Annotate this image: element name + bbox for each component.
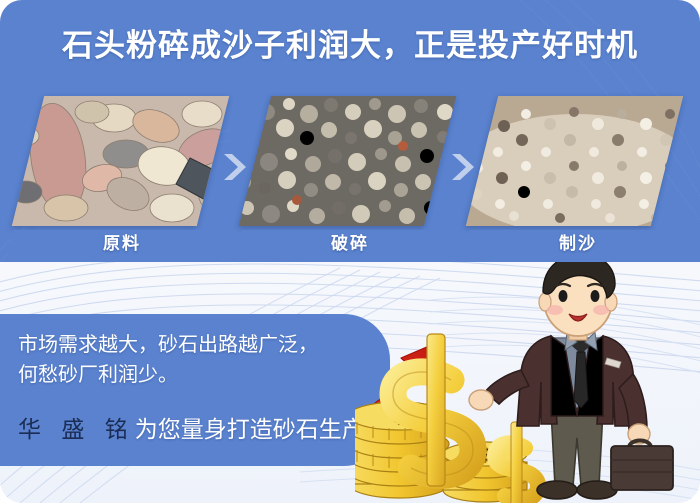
promo-banner: 石头粉碎成沙子利润大，正是投产好时机 <box>0 0 700 503</box>
step-label-raw: 原料 <box>7 230 238 258</box>
businessman-illustration: $ $ <box>355 262 700 503</box>
crushed-gravel-photo <box>239 96 456 226</box>
process-steps: 原料 破碎 制沙 <box>0 96 700 262</box>
raw-pebbles-photo <box>12 96 229 226</box>
brand-tagline: 华 盛 铭为您量身打造砂石生产线 <box>18 412 388 446</box>
step-label-sand-text: 制沙 <box>466 230 690 258</box>
step-label-crushed-text: 破碎 <box>238 230 462 258</box>
process-step-crushed <box>255 96 440 226</box>
chevron-right-icon <box>450 152 476 182</box>
step-label-crushed: 破碎 <box>235 230 466 258</box>
brand-name: 华 盛 铭 <box>18 416 135 442</box>
page-title: 石头粉碎成沙子利润大，正是投产好时机 <box>0 26 700 66</box>
brand-tagline-text: 为您量身打造砂石生产线 <box>135 416 388 442</box>
message-line-2: 何愁砂厂利润少。 <box>18 360 178 390</box>
chevron-right-icon <box>222 152 248 182</box>
process-step-sand <box>482 96 667 226</box>
message-line-1: 市场需求越大，砂石出路越广泛， <box>18 330 318 360</box>
process-step-raw <box>28 96 213 226</box>
dollar-sign-small <box>495 422 538 503</box>
step-label-sand: 制沙 <box>463 230 694 258</box>
finished-sand-photo <box>466 96 683 226</box>
step-label-raw-text: 原料 <box>10 230 234 258</box>
